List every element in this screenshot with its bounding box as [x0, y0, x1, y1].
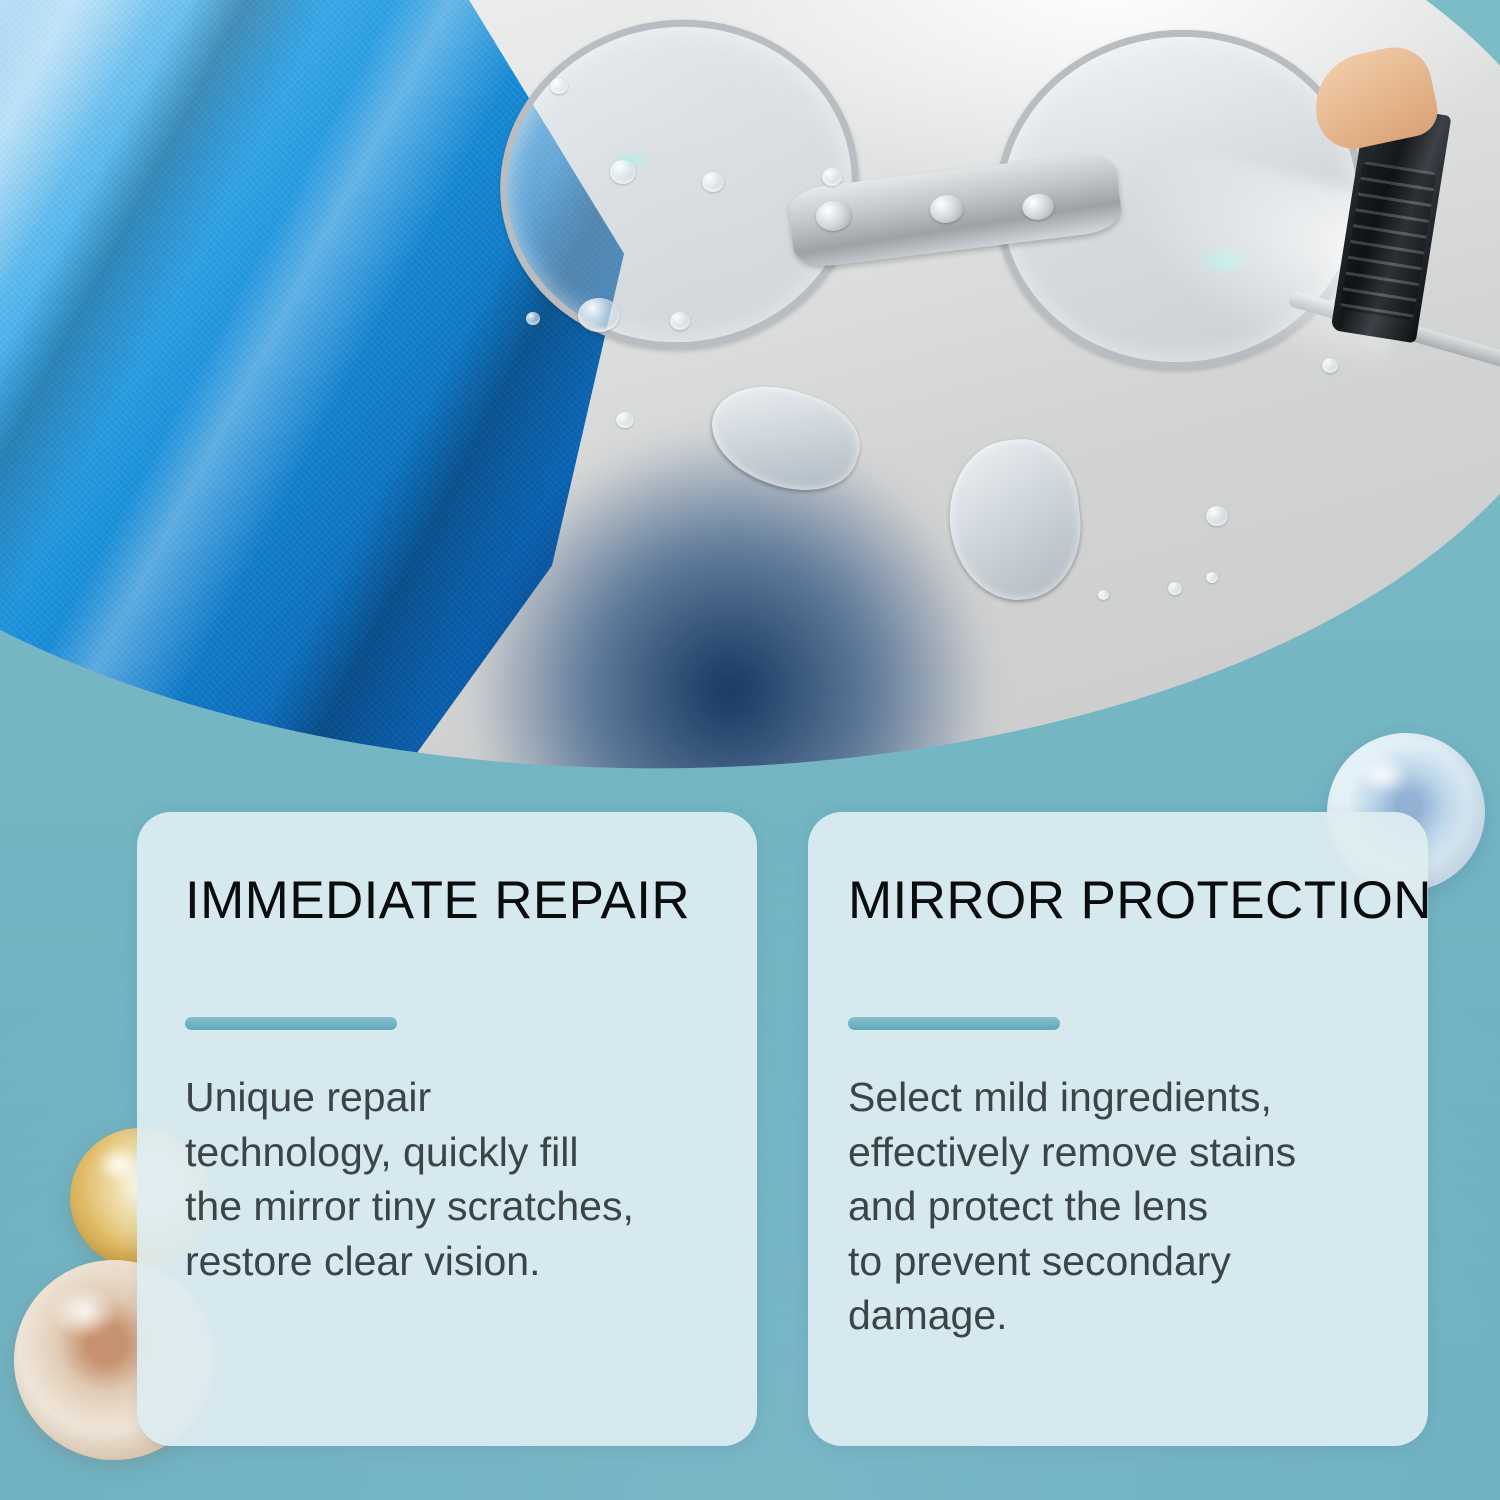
sphere-gloss	[38, 1276, 130, 1348]
bridge-rivet	[928, 193, 965, 225]
sphere-gloss	[1346, 746, 1419, 803]
water-droplet	[702, 172, 724, 192]
feature-card-title: IMMEDIATE REPAIR	[185, 874, 690, 927]
bridge-rivet	[814, 199, 853, 233]
water-droplet	[822, 168, 842, 186]
water-droplet	[1098, 590, 1109, 600]
product-feature-graphic: IMMEDIATE REPAIR Unique repair technolog…	[0, 0, 1500, 1500]
feature-card-mirror-protection: MIRROR PROTECTION Select mild ingredient…	[808, 812, 1428, 1446]
feature-card-divider	[848, 1017, 1060, 1030]
water-droplet	[578, 298, 620, 332]
water-droplet	[670, 312, 690, 330]
feature-card-body: Select mild ingredients, effectively rem…	[848, 1070, 1393, 1343]
bridge-rivet	[1021, 192, 1056, 222]
water-droplet	[610, 160, 636, 184]
water-droplet	[526, 312, 540, 325]
feature-card-body: Unique repair technology, quickly fill t…	[185, 1070, 725, 1288]
nose-pad-right	[942, 434, 1088, 607]
water-droplet	[1168, 582, 1182, 595]
feature-card-divider	[185, 1017, 397, 1030]
water-droplet	[550, 78, 568, 94]
water-droplet	[1206, 572, 1218, 583]
feature-card-title: MIRROR PROTECTION	[848, 874, 1432, 927]
nose-pad-left	[699, 369, 871, 507]
water-droplet	[1206, 506, 1228, 526]
feature-card-immediate-repair: IMMEDIATE REPAIR Unique repair technolog…	[137, 812, 757, 1446]
water-droplet	[616, 412, 634, 428]
